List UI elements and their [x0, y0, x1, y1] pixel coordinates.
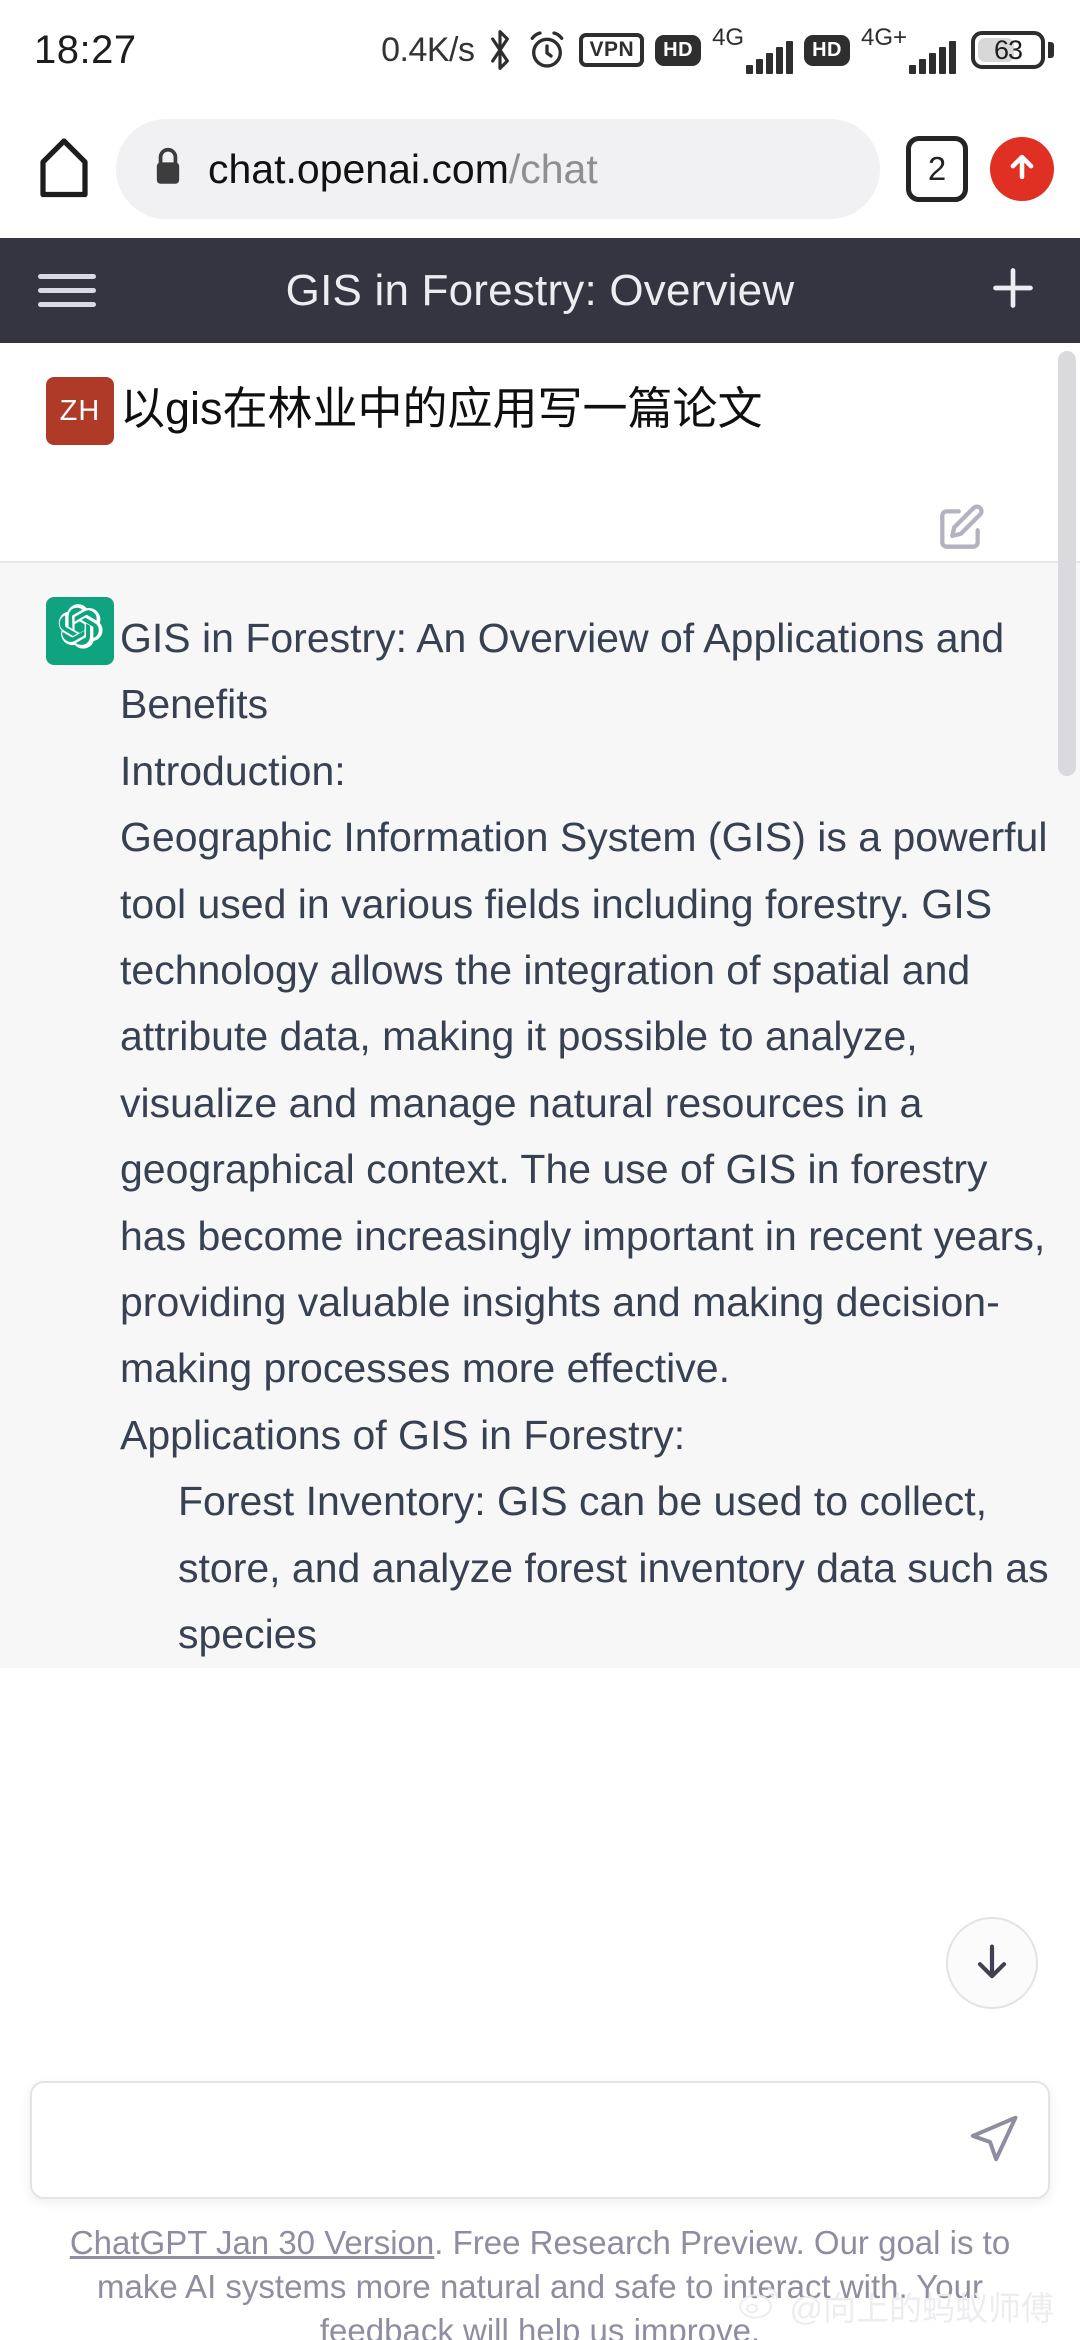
- message-input[interactable]: [32, 2119, 1048, 2162]
- openai-logo-icon: [55, 602, 105, 660]
- status-time: 18:27: [34, 28, 137, 73]
- signal-sim2: 4G+: [861, 26, 956, 74]
- assistant-subheading: Introduction:: [120, 738, 1050, 804]
- send-button[interactable]: [966, 2110, 1022, 2171]
- chat-header: GIS in Forestry: Overview: [0, 238, 1080, 343]
- composer[interactable]: [30, 2081, 1050, 2199]
- chat-title: GIS in Forestry: Overview: [96, 266, 984, 316]
- weibo-icon: [738, 2284, 782, 2328]
- browser-toolbar: chat.openai.com/chat 2: [0, 100, 1080, 238]
- assistant-message-text: GIS in Forestry: An Overview of Applicat…: [114, 597, 1050, 1668]
- assistant-list: Forest Inventory: GIS can be used to col…: [120, 1468, 1050, 1667]
- battery-tip: [1048, 42, 1054, 58]
- alarm-clock-icon: [526, 29, 568, 71]
- url-domain: chat.openai.com: [208, 146, 509, 192]
- home-button[interactable]: [22, 134, 106, 205]
- watermark-text: @向上的蚂蚁师傅: [790, 2282, 1055, 2330]
- scrollbar-thumb[interactable]: [1058, 351, 1076, 776]
- plus-icon: [985, 260, 1041, 321]
- up-arrow-icon: [1005, 150, 1039, 189]
- battery-percent-label: 63: [994, 35, 1022, 66]
- bluetooth-icon: [485, 28, 515, 72]
- home-icon: [34, 134, 94, 205]
- status-icons: 0.4K/s VPN HD 4G HD 4G+: [381, 26, 1054, 74]
- hamburger-menu-icon[interactable]: [38, 274, 96, 307]
- network-type-sim1: 4G: [712, 26, 744, 50]
- user-message: ZH 以gis在林业中的应用写一篇论文: [0, 343, 1080, 561]
- signal-bars-sim2: [909, 40, 956, 74]
- arrow-down-icon: [968, 1937, 1016, 1990]
- send-paper-plane-icon: [966, 2110, 1022, 2171]
- hd-badge-sim2: HD: [804, 35, 850, 66]
- url-text: chat.openai.com/chat: [208, 146, 598, 193]
- user-message-text: 以gis在林业中的应用写一篇论文: [114, 377, 1050, 561]
- signal-bars-sim1: [746, 40, 793, 74]
- status-bar: 18:27 0.4K/s VPN HD 4G HD: [0, 0, 1080, 100]
- hd-badge-sim1: HD: [655, 35, 701, 66]
- update-button[interactable]: [990, 137, 1054, 201]
- watermark: @向上的蚂蚁师傅: [738, 2282, 1055, 2330]
- battery-indicator: 63: [971, 31, 1054, 69]
- scroll-to-bottom-button[interactable]: [946, 1917, 1038, 2009]
- network-speed-label: 0.4K/s: [381, 31, 474, 70]
- url-path: /chat: [509, 146, 598, 192]
- composer-area: [0, 2055, 1080, 2199]
- message-thread[interactable]: ZH 以gis在林业中的应用写一篇论文: [0, 343, 1080, 2055]
- vpn-badge: VPN: [579, 33, 644, 67]
- assistant-section-title: Applications of GIS in Forestry:: [120, 1402, 1050, 1468]
- phone-screen: 18:27 0.4K/s VPN HD 4G HD: [0, 0, 1080, 2340]
- edit-pencil-icon: [934, 542, 988, 559]
- network-type-sim2: 4G+: [861, 26, 907, 50]
- tab-counter-button[interactable]: 2: [906, 136, 968, 202]
- lock-icon: [150, 145, 186, 194]
- version-link[interactable]: ChatGPT Jan 30 Version: [70, 2224, 434, 2261]
- avatar: ZH: [46, 377, 114, 445]
- assistant-paragraph: Geographic Information System (GIS) is a…: [120, 804, 1050, 1402]
- edit-message-button[interactable]: [934, 501, 988, 560]
- avatar: [46, 597, 114, 665]
- assistant-message: GIS in Forestry: An Overview of Applicat…: [0, 561, 1080, 1668]
- assistant-heading: GIS in Forestry: An Overview of Applicat…: [120, 605, 1050, 738]
- url-bar[interactable]: chat.openai.com/chat: [116, 119, 880, 219]
- list-item: Forest Inventory: GIS can be used to col…: [178, 1468, 1050, 1667]
- signal-sim1: 4G: [712, 26, 793, 74]
- battery-body: 63: [971, 31, 1045, 69]
- new-chat-button[interactable]: [984, 260, 1042, 321]
